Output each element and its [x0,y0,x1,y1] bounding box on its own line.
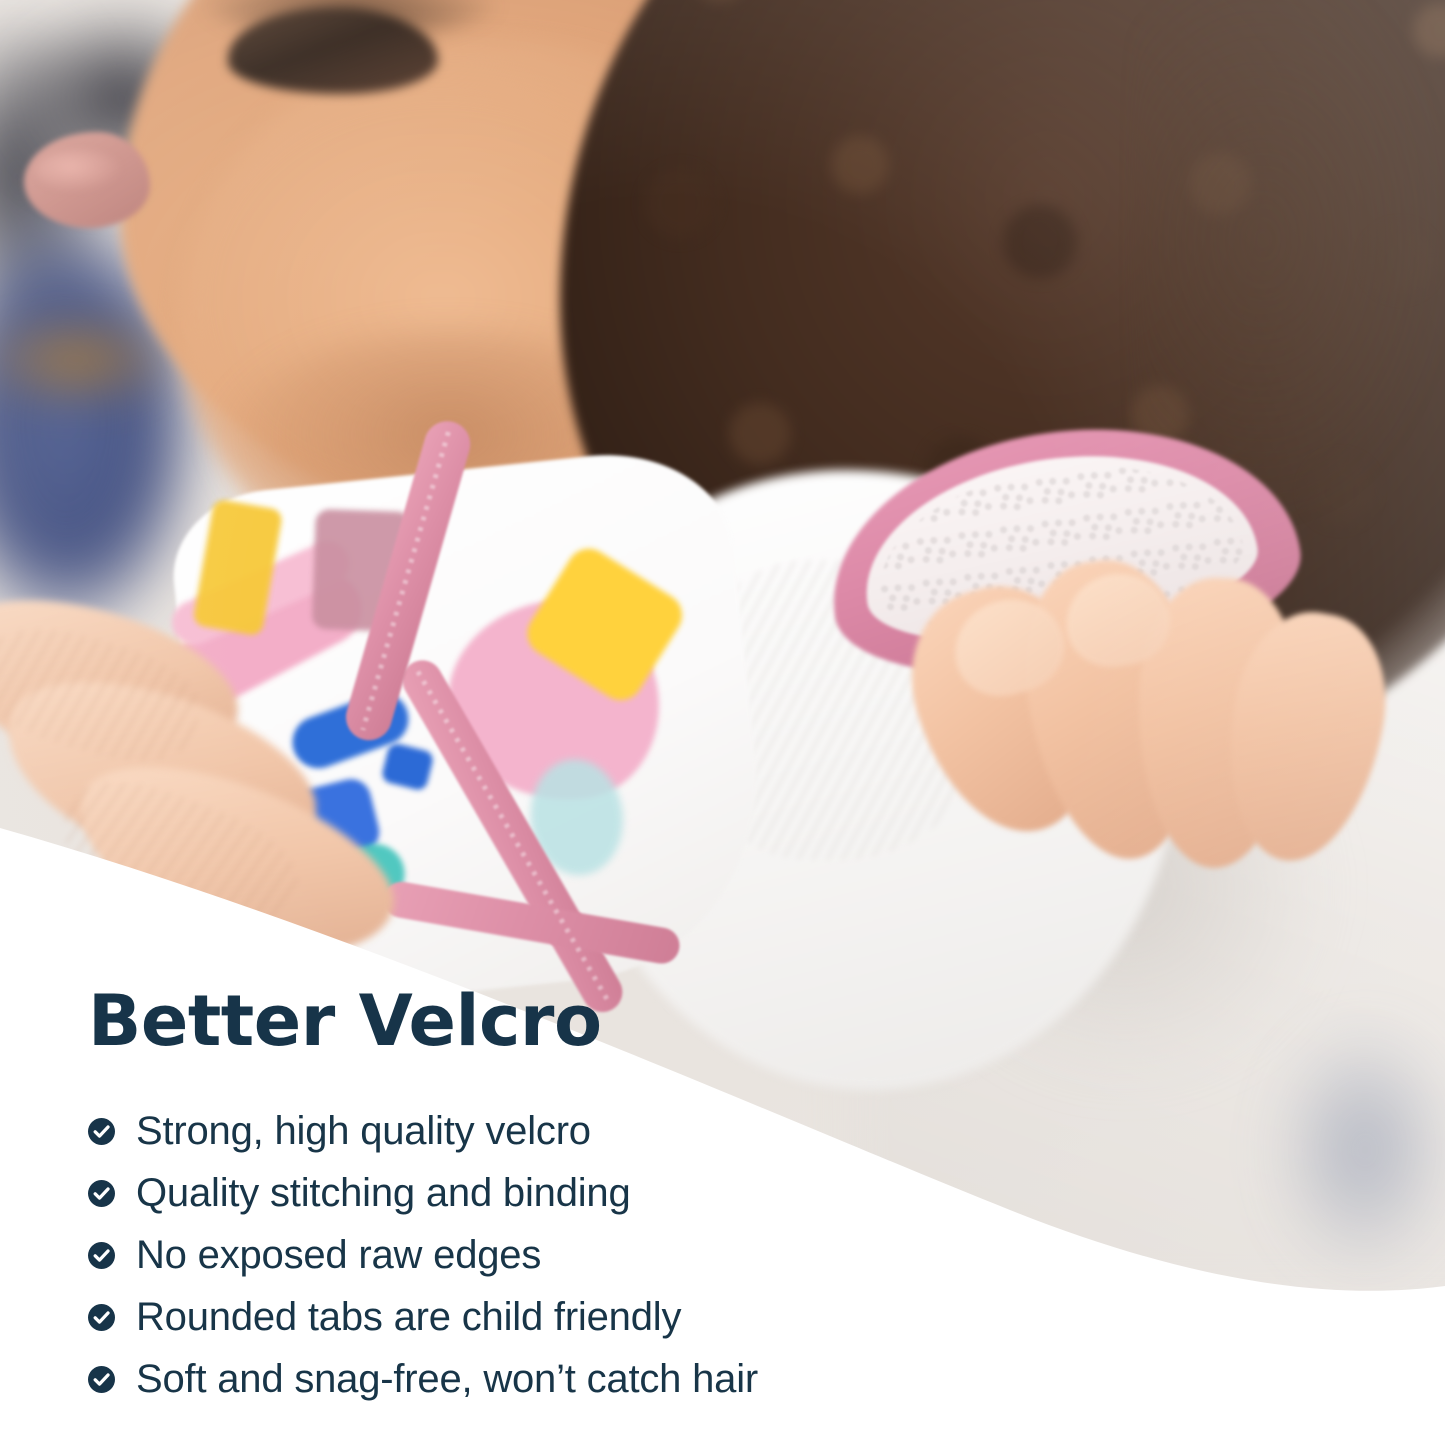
blurred-right-blue [1185,980,1445,1320]
bullet-label: No exposed raw edges [136,1235,541,1275]
check-circle-icon [88,1118,115,1145]
check-circle-icon [88,1242,115,1269]
list-item: Strong, high quality velcro [88,1100,948,1162]
list-item: No exposed raw edges [88,1224,948,1286]
product-feature-image: Better Velcro Strong, high quality velcr… [0,0,1445,1445]
feature-bullet-list: Strong, high quality velcro Quality stit… [88,1100,948,1410]
bullet-label: Rounded tabs are child friendly [136,1297,681,1337]
check-circle-icon [88,1180,115,1207]
adult-hand-holding-bib [0,600,460,940]
list-item: Soft and snag-free, won’t catch hair [88,1348,948,1410]
feature-card-content: Better Velcro Strong, high quality velcr… [88,986,948,1410]
list-item: Quality stitching and binding [88,1162,948,1224]
check-circle-icon [88,1304,115,1331]
child-lips-highlight [36,150,122,192]
bullet-label: Strong, high quality velcro [136,1111,591,1151]
list-item: Rounded tabs are child friendly [88,1286,948,1348]
bullet-label: Quality stitching and binding [136,1173,631,1213]
bullet-label: Soft and snag-free, won’t catch hair [136,1359,758,1399]
adult-hand-holding-tab [880,560,1400,960]
page-title: Better Velcro [88,986,948,1056]
check-circle-icon [88,1366,115,1393]
